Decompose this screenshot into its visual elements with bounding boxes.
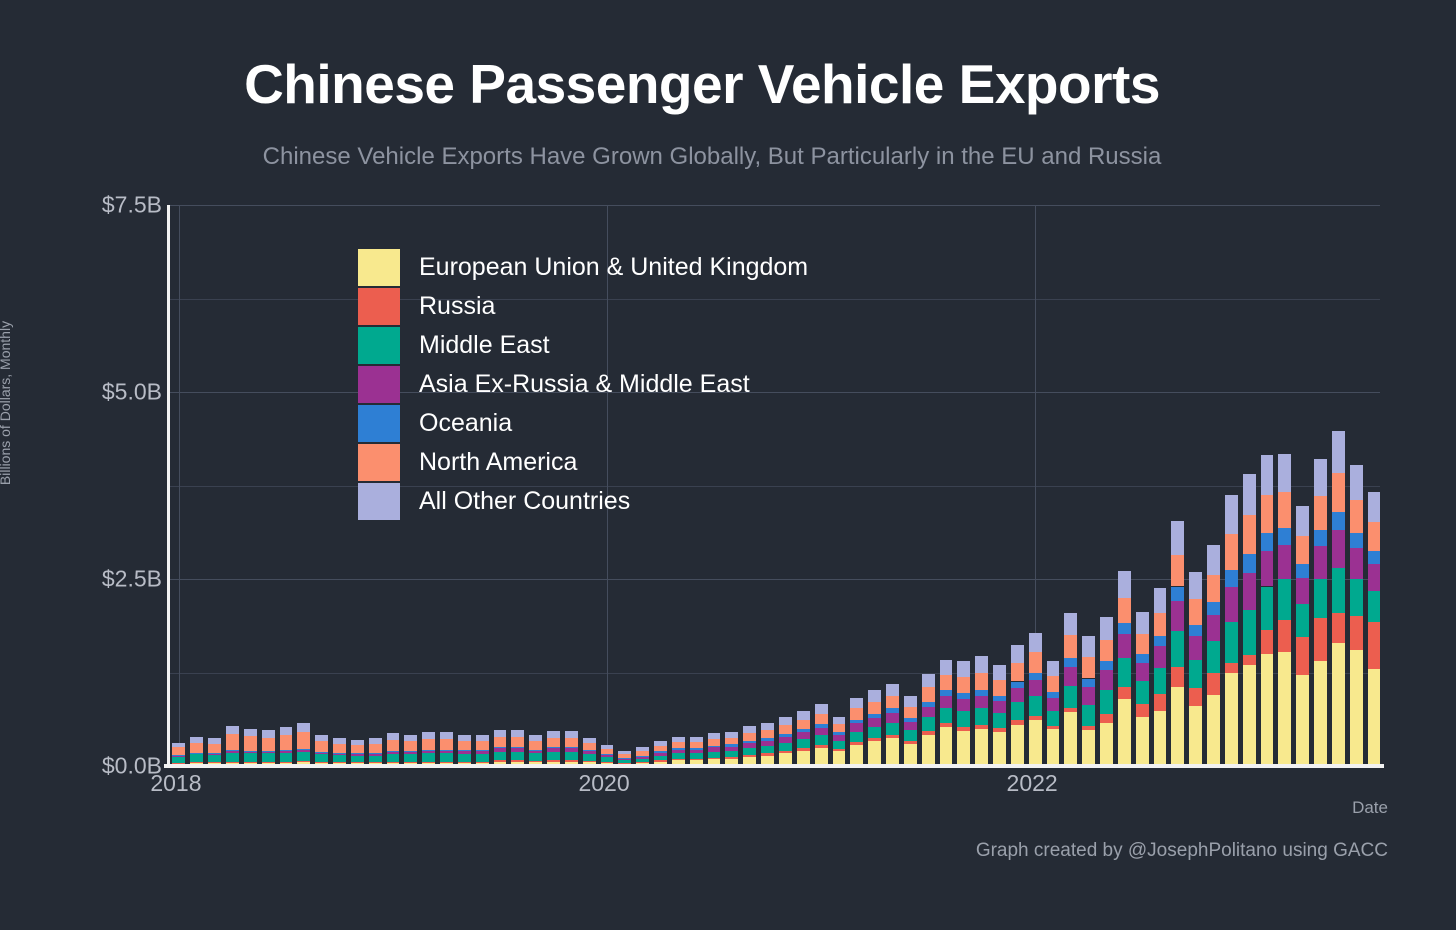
bar-segment[interactable] <box>601 745 614 749</box>
bar-segment[interactable] <box>725 732 738 738</box>
bar-segment[interactable] <box>618 758 631 759</box>
bar-segment[interactable] <box>1350 533 1363 548</box>
bar-segment[interactable] <box>833 735 846 741</box>
bar-segment[interactable] <box>494 737 507 747</box>
bar-segment[interactable] <box>1207 673 1220 695</box>
bar-segment[interactable] <box>547 731 560 738</box>
bar-segment[interactable] <box>387 751 400 752</box>
bar-segment[interactable] <box>1100 640 1113 661</box>
bar-segment[interactable] <box>208 753 221 754</box>
bar-segment[interactable] <box>458 754 471 761</box>
bar-column[interactable] <box>1047 661 1060 766</box>
bar-segment[interactable] <box>957 661 970 677</box>
bar-column[interactable] <box>1261 455 1274 766</box>
bar-segment[interactable] <box>440 750 453 753</box>
bar-segment[interactable] <box>797 720 810 730</box>
bar-segment[interactable] <box>690 759 703 760</box>
bar-segment[interactable] <box>1082 726 1095 730</box>
bar-segment[interactable] <box>1154 588 1167 613</box>
bar-segment[interactable] <box>565 748 578 752</box>
bar-segment[interactable] <box>1100 714 1113 723</box>
bar-segment[interactable] <box>708 752 721 758</box>
bar-segment[interactable] <box>850 698 863 708</box>
bar-segment[interactable] <box>369 738 382 744</box>
bar-segment[interactable] <box>743 726 756 733</box>
bar-segment[interactable] <box>440 739 453 749</box>
bar-segment[interactable] <box>1243 474 1256 516</box>
bar-segment[interactable] <box>1207 575 1220 603</box>
bar-segment[interactable] <box>654 741 667 745</box>
bar-segment[interactable] <box>583 743 596 750</box>
bar-segment[interactable] <box>565 760 578 761</box>
bar-segment[interactable] <box>1136 704 1149 717</box>
bar-segment[interactable] <box>1189 572 1202 599</box>
legend-item[interactable]: All Other Countries <box>358 482 958 521</box>
bar-segment[interactable] <box>1314 618 1327 661</box>
bar-segment[interactable] <box>422 739 435 749</box>
bar-segment[interactable] <box>529 761 542 762</box>
bar-column[interactable] <box>708 733 721 766</box>
bar-segment[interactable] <box>422 750 435 753</box>
bar-segment[interactable] <box>1100 661 1113 671</box>
bar-segment[interactable] <box>1011 663 1024 682</box>
bar-column[interactable] <box>190 737 203 766</box>
bar-column[interactable] <box>1082 636 1095 766</box>
bar-segment[interactable] <box>761 753 774 755</box>
bar-segment[interactable] <box>993 732 1006 766</box>
bar-column[interactable] <box>1225 495 1238 766</box>
bar-segment[interactable] <box>922 735 935 766</box>
bar-column[interactable] <box>315 735 328 766</box>
bar-segment[interactable] <box>601 757 614 761</box>
bar-segment[interactable] <box>208 762 221 763</box>
bar-column[interactable] <box>244 729 257 766</box>
bar-segment[interactable] <box>494 730 507 737</box>
legend-item[interactable]: European Union & United Kingdom <box>358 248 958 287</box>
bar-segment[interactable] <box>458 741 471 750</box>
bar-segment[interactable] <box>904 730 917 740</box>
bar-segment[interactable] <box>458 750 471 751</box>
bar-segment[interactable] <box>1118 571 1131 598</box>
bar-segment[interactable] <box>690 750 703 754</box>
bar-segment[interactable] <box>975 690 988 696</box>
bar-column[interactable] <box>1296 506 1309 766</box>
bar-segment[interactable] <box>422 750 435 751</box>
bar-segment[interactable] <box>672 737 685 742</box>
bar-segment[interactable] <box>476 754 489 761</box>
bar-segment[interactable] <box>1136 654 1149 663</box>
bar-column[interactable] <box>333 738 346 766</box>
bar-segment[interactable] <box>833 732 846 735</box>
bar-segment[interactable] <box>708 747 721 751</box>
bar-segment[interactable] <box>1118 658 1131 686</box>
bar-segment[interactable] <box>1100 670 1113 689</box>
bar-segment[interactable] <box>422 753 435 761</box>
bar-segment[interactable] <box>1100 617 1113 639</box>
bar-segment[interactable] <box>190 753 203 754</box>
bar-segment[interactable] <box>458 735 471 741</box>
bar-segment[interactable] <box>387 754 400 762</box>
bar-segment[interactable] <box>262 762 275 763</box>
bar-segment[interactable] <box>1064 667 1077 686</box>
bar-segment[interactable] <box>636 756 649 758</box>
bar-column[interactable] <box>922 674 935 766</box>
bar-segment[interactable] <box>886 696 899 709</box>
bar-column[interactable] <box>387 733 400 766</box>
bar-segment[interactable] <box>529 753 542 760</box>
bar-segment[interactable] <box>351 753 364 755</box>
bar-segment[interactable] <box>333 753 346 754</box>
bar-segment[interactable] <box>743 741 756 743</box>
bar-segment[interactable] <box>1296 637 1309 674</box>
bar-segment[interactable] <box>280 750 293 751</box>
bar-segment[interactable] <box>333 744 346 753</box>
bar-segment[interactable] <box>690 753 703 758</box>
bar-segment[interactable] <box>636 751 649 755</box>
bar-segment[interactable] <box>1154 711 1167 766</box>
bar-column[interactable] <box>868 690 881 766</box>
bar-segment[interactable] <box>993 713 1006 728</box>
bar-column[interactable] <box>458 735 471 766</box>
bar-segment[interactable] <box>190 743 203 753</box>
bar-segment[interactable] <box>1225 673 1238 766</box>
bar-column[interactable] <box>1189 572 1202 766</box>
bar-segment[interactable] <box>868 738 881 741</box>
bar-segment[interactable] <box>511 760 524 761</box>
bar-segment[interactable] <box>975 673 988 690</box>
bar-segment[interactable] <box>1261 587 1274 630</box>
bar-segment[interactable] <box>815 728 828 735</box>
bar-segment[interactable] <box>494 748 507 752</box>
bar-column[interactable] <box>1118 571 1131 766</box>
bar-segment[interactable] <box>886 738 899 766</box>
bar-segment[interactable] <box>1314 546 1327 579</box>
bar-column[interactable] <box>815 704 828 766</box>
bar-segment[interactable] <box>1189 688 1202 706</box>
bar-segment[interactable] <box>1368 591 1380 622</box>
bar-segment[interactable] <box>369 762 382 763</box>
bar-segment[interactable] <box>1029 652 1042 672</box>
legend-item[interactable]: North America <box>358 443 958 482</box>
bar-segment[interactable] <box>1189 599 1202 624</box>
bar-segment[interactable] <box>1118 699 1131 766</box>
bar-segment[interactable] <box>1189 706 1202 766</box>
bar-segment[interactable] <box>975 696 988 709</box>
bar-column[interactable] <box>262 730 275 766</box>
bar-segment[interactable] <box>815 745 828 748</box>
bar-segment[interactable] <box>404 741 417 751</box>
bar-segment[interactable] <box>975 656 988 672</box>
bar-segment[interactable] <box>1278 492 1291 528</box>
bar-segment[interactable] <box>601 762 614 763</box>
bar-segment[interactable] <box>1029 633 1042 652</box>
bar-segment[interactable] <box>904 741 917 744</box>
bar-segment[interactable] <box>244 751 257 752</box>
bar-segment[interactable] <box>226 734 239 750</box>
bar-segment[interactable] <box>618 759 631 760</box>
bar-segment[interactable] <box>1029 673 1042 680</box>
bar-segment[interactable] <box>1314 579 1327 618</box>
bar-segment[interactable] <box>565 738 578 747</box>
bar-segment[interactable] <box>1261 630 1274 654</box>
bar-segment[interactable] <box>458 762 471 763</box>
bar-segment[interactable] <box>351 753 364 754</box>
bar-segment[interactable] <box>565 752 578 760</box>
bar-segment[interactable] <box>797 711 810 720</box>
bar-segment[interactable] <box>672 742 685 748</box>
bar-segment[interactable] <box>244 729 257 736</box>
bar-segment[interactable] <box>529 750 542 751</box>
bar-segment[interactable] <box>850 708 863 719</box>
bar-segment[interactable] <box>1082 730 1095 766</box>
bar-column[interactable] <box>654 741 667 766</box>
bar-segment[interactable] <box>1243 515 1256 554</box>
bar-segment[interactable] <box>1189 636 1202 660</box>
bar-segment[interactable] <box>654 753 667 756</box>
bar-segment[interactable] <box>1136 717 1149 766</box>
bar-segment[interactable] <box>1100 723 1113 766</box>
bar-segment[interactable] <box>280 735 293 750</box>
bar-segment[interactable] <box>565 731 578 738</box>
bar-segment[interactable] <box>761 723 774 730</box>
bar-segment[interactable] <box>797 748 810 751</box>
bar-segment[interactable] <box>904 722 917 730</box>
bar-segment[interactable] <box>1136 663 1149 682</box>
bar-segment[interactable] <box>369 753 382 754</box>
bar-segment[interactable] <box>1171 687 1184 766</box>
bar-segment[interactable] <box>226 726 239 734</box>
bar-column[interactable] <box>172 743 185 766</box>
bar-segment[interactable] <box>422 732 435 739</box>
bar-segment[interactable] <box>1171 667 1184 688</box>
bar-segment[interactable] <box>1296 604 1309 637</box>
bar-segment[interactable] <box>387 740 400 751</box>
bar-segment[interactable] <box>708 758 721 759</box>
bar-segment[interactable] <box>725 744 738 746</box>
bar-segment[interactable] <box>387 762 400 763</box>
bar-segment[interactable] <box>1278 652 1291 766</box>
bar-segment[interactable] <box>262 753 275 761</box>
bar-segment[interactable] <box>511 748 524 752</box>
bar-column[interactable] <box>975 656 988 766</box>
bar-segment[interactable] <box>993 701 1006 713</box>
bar-segment[interactable] <box>868 727 881 738</box>
bar-segment[interactable] <box>957 711 970 727</box>
bar-segment[interactable] <box>315 753 328 754</box>
bar-segment[interactable] <box>440 750 453 751</box>
bar-segment[interactable] <box>922 707 935 717</box>
bar-column[interactable] <box>725 732 738 766</box>
bar-segment[interactable] <box>1225 570 1238 587</box>
bar-segment[interactable] <box>1225 622 1238 663</box>
bar-segment[interactable] <box>940 675 953 691</box>
bar-segment[interactable] <box>1296 578 1309 605</box>
bar-segment[interactable] <box>1189 625 1202 636</box>
bar-segment[interactable] <box>654 751 667 752</box>
bar-segment[interactable] <box>208 755 221 762</box>
bar-segment[interactable] <box>1011 720 1024 724</box>
bar-column[interactable] <box>1064 613 1077 766</box>
bar-segment[interactable] <box>1261 654 1274 766</box>
bar-segment[interactable] <box>618 751 631 754</box>
bar-segment[interactable] <box>583 750 596 751</box>
bar-segment[interactable] <box>1278 528 1291 544</box>
bar-segment[interactable] <box>262 738 275 751</box>
bar-segment[interactable] <box>1368 551 1380 564</box>
bar-segment[interactable] <box>725 751 738 757</box>
bar-segment[interactable] <box>690 737 703 742</box>
bar-column[interactable] <box>1243 474 1256 766</box>
bar-segment[interactable] <box>886 708 899 712</box>
bar-segment[interactable] <box>636 762 649 763</box>
bar-segment[interactable] <box>761 741 774 746</box>
bar-segment[interactable] <box>993 728 1006 732</box>
bar-segment[interactable] <box>797 729 810 732</box>
bar-segment[interactable] <box>583 761 596 762</box>
bar-segment[interactable] <box>904 718 917 722</box>
bar-segment[interactable] <box>1296 536 1309 564</box>
bar-segment[interactable] <box>743 748 756 755</box>
bar-segment[interactable] <box>333 755 346 762</box>
bar-segment[interactable] <box>654 756 667 760</box>
bar-segment[interactable] <box>1225 495 1238 534</box>
bar-segment[interactable] <box>458 751 471 754</box>
bar-segment[interactable] <box>190 737 203 743</box>
legend-item[interactable]: Oceania <box>358 404 958 443</box>
bar-segment[interactable] <box>672 753 685 758</box>
bar-segment[interactable] <box>1064 658 1077 667</box>
bar-segment[interactable] <box>297 750 310 751</box>
bar-segment[interactable] <box>672 750 685 754</box>
bar-segment[interactable] <box>850 720 863 724</box>
bar-column[interactable] <box>369 738 382 766</box>
bar-segment[interactable] <box>190 753 203 754</box>
bar-segment[interactable] <box>404 735 417 741</box>
bar-segment[interactable] <box>1047 698 1060 711</box>
bar-segment[interactable] <box>1332 530 1345 567</box>
bar-column[interactable] <box>743 726 756 766</box>
bar-segment[interactable] <box>297 749 310 750</box>
bar-segment[interactable] <box>940 696 953 708</box>
bar-segment[interactable] <box>1064 686 1077 708</box>
bar-segment[interactable] <box>1332 643 1345 766</box>
bar-segment[interactable] <box>1225 587 1238 621</box>
bar-segment[interactable] <box>1136 634 1149 654</box>
bar-column[interactable] <box>690 737 703 766</box>
bar-column[interactable] <box>1171 521 1184 766</box>
bar-segment[interactable] <box>1332 431 1345 473</box>
bar-segment[interactable] <box>351 745 364 752</box>
bar-segment[interactable] <box>1314 459 1327 496</box>
bar-segment[interactable] <box>494 752 507 760</box>
bar-segment[interactable] <box>494 747 507 748</box>
bar-segment[interactable] <box>1332 568 1345 613</box>
bar-segment[interactable] <box>708 739 721 746</box>
bar-segment[interactable] <box>1154 613 1167 636</box>
bar-segment[interactable] <box>1082 636 1095 657</box>
bar-segment[interactable] <box>1243 610 1256 655</box>
bar-segment[interactable] <box>1368 564 1380 591</box>
bar-segment[interactable] <box>511 752 524 760</box>
bar-segment[interactable] <box>761 738 774 740</box>
bar-column[interactable] <box>529 735 542 766</box>
bar-segment[interactable] <box>1047 692 1060 698</box>
bar-segment[interactable] <box>1011 688 1024 702</box>
bar-segment[interactable] <box>262 751 275 752</box>
bar-column[interactable] <box>1207 545 1220 766</box>
bar-segment[interactable] <box>404 754 417 761</box>
legend-item[interactable]: Asia Ex-Russia & Middle East <box>358 365 958 404</box>
bar-segment[interactable] <box>1064 712 1077 766</box>
bar-column[interactable] <box>1011 645 1024 766</box>
bar-segment[interactable] <box>369 756 382 763</box>
bar-segment[interactable] <box>1207 602 1220 615</box>
bar-segment[interactable] <box>440 762 453 763</box>
bar-segment[interactable] <box>1332 613 1345 643</box>
bar-segment[interactable] <box>1225 663 1238 673</box>
bar-segment[interactable] <box>1261 495 1274 532</box>
bar-segment[interactable] <box>725 738 738 745</box>
bar-segment[interactable] <box>636 756 649 757</box>
bar-segment[interactable] <box>779 734 792 737</box>
bar-segment[interactable] <box>654 746 667 751</box>
bar-segment[interactable] <box>404 752 417 754</box>
bar-segment[interactable] <box>1207 641 1220 672</box>
bar-segment[interactable] <box>993 665 1006 680</box>
bar-segment[interactable] <box>1296 506 1309 536</box>
bar-segment[interactable] <box>1368 622 1380 668</box>
bar-column[interactable] <box>351 740 364 766</box>
bar-segment[interactable] <box>1314 530 1327 546</box>
bar-column[interactable] <box>1136 612 1149 766</box>
bar-segment[interactable] <box>815 735 828 745</box>
bar-segment[interactable] <box>172 756 185 763</box>
bar-segment[interactable] <box>1350 465 1363 500</box>
bar-column[interactable] <box>993 665 1006 766</box>
bar-segment[interactable] <box>833 724 846 732</box>
bar-segment[interactable] <box>333 738 346 744</box>
bar-segment[interactable] <box>244 752 257 753</box>
bar-segment[interactable] <box>868 718 881 727</box>
bar-segment[interactable] <box>244 762 257 763</box>
bar-segment[interactable] <box>940 690 953 696</box>
bar-segment[interactable] <box>583 754 596 761</box>
bar-segment[interactable] <box>547 748 560 752</box>
bar-segment[interactable] <box>226 750 239 751</box>
bar-segment[interactable] <box>1154 646 1167 668</box>
bar-segment[interactable] <box>297 752 310 761</box>
bar-segment[interactable] <box>208 738 221 744</box>
bar-segment[interactable] <box>1011 725 1024 766</box>
bar-segment[interactable] <box>1011 645 1024 663</box>
bar-segment[interactable] <box>993 696 1006 701</box>
bar-column[interactable] <box>476 735 489 766</box>
bar-column[interactable] <box>672 737 685 766</box>
bar-column[interactable] <box>761 723 774 766</box>
bar-segment[interactable] <box>957 677 970 693</box>
bar-segment[interactable] <box>922 702 935 707</box>
bar-segment[interactable] <box>280 753 293 762</box>
bar-segment[interactable] <box>280 727 293 735</box>
bar-segment[interactable] <box>1154 694 1167 710</box>
bar-segment[interactable] <box>1047 726 1060 729</box>
bar-segment[interactable] <box>833 749 846 751</box>
bar-column[interactable] <box>940 660 953 766</box>
bar-segment[interactable] <box>1118 634 1131 658</box>
bar-segment[interactable] <box>1296 564 1309 577</box>
bar-segment[interactable] <box>743 743 756 748</box>
bar-column[interactable] <box>1029 633 1042 766</box>
